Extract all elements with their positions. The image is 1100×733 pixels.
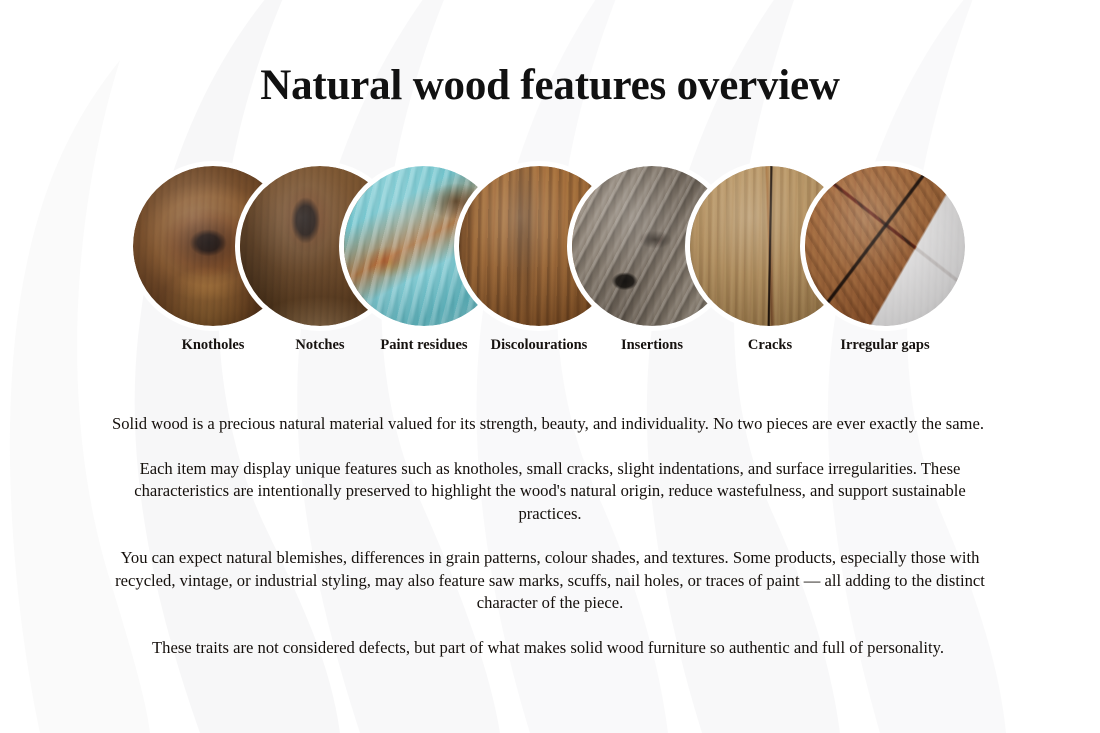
page-title: Natural wood features overview (0, 60, 1100, 112)
feature-image-irregular-gaps[interactable] (805, 166, 965, 326)
feature-label-irregular-gaps: Irregular gaps (775, 336, 995, 354)
irregular-gap-block-photo (805, 166, 965, 326)
body-paragraph-4: These traits are not considered defects,… (103, 637, 993, 660)
feature-strip: Knotholes Notches Paint residues Discolo… (0, 166, 1100, 356)
body-paragraph-3: You can expect natural blemishes, differ… (99, 547, 1001, 615)
page-root: Natural wood features overview (0, 0, 1100, 733)
body-paragraph-2: Each item may display unique features su… (110, 458, 990, 526)
body-copy: Solid wood is a precious natural materia… (95, 413, 1005, 659)
body-paragraph-1: Solid wood is a precious natural materia… (103, 413, 993, 436)
